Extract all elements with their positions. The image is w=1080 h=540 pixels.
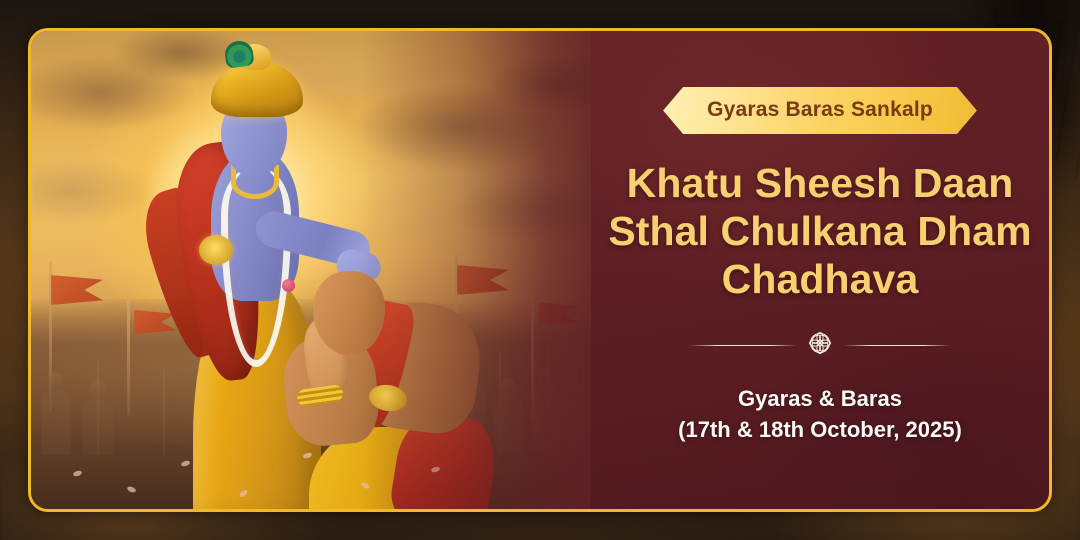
page-title: Khatu Sheesh Daan Sthal Chulkana Dham Ch… [608, 160, 1031, 304]
krishna-armband [199, 235, 233, 265]
artwork-illustration [31, 31, 631, 509]
golden-frame-border: Gyaras Baras Sankalp Khatu Sheesh Daan S… [28, 28, 1052, 512]
army-flag [51, 275, 103, 305]
petal [126, 485, 136, 493]
title-line-3: Chadhava [722, 256, 919, 302]
flag-pole [127, 295, 130, 415]
dates-line-1: Gyaras & Baras [678, 383, 962, 414]
divider-rule-right [843, 345, 951, 346]
promotional-banner: Gyaras Baras Sankalp Khatu Sheesh Daan S… [0, 0, 1080, 540]
petal [72, 470, 82, 478]
event-dates: Gyaras & Baras (17th & 18th October, 202… [678, 383, 962, 445]
title-line-1: Khatu Sheesh Daan [627, 160, 1014, 206]
divider-rule-left [689, 345, 797, 346]
petal [238, 489, 248, 499]
content-column: Gyaras Baras Sankalp Khatu Sheesh Daan S… [591, 31, 1049, 509]
rosette-flower-icon [807, 330, 833, 361]
petal [302, 452, 312, 460]
ornamental-divider [689, 330, 951, 361]
title-line-2: Sthal Chulkana Dham [608, 208, 1031, 254]
krishna-crown [211, 61, 303, 117]
dates-line-2: (17th & 18th October, 2025) [678, 414, 962, 445]
petal [180, 460, 190, 468]
ribbon-label: Gyaras Baras Sankalp [707, 98, 933, 122]
sankalp-ribbon-badge: Gyaras Baras Sankalp [663, 87, 977, 134]
